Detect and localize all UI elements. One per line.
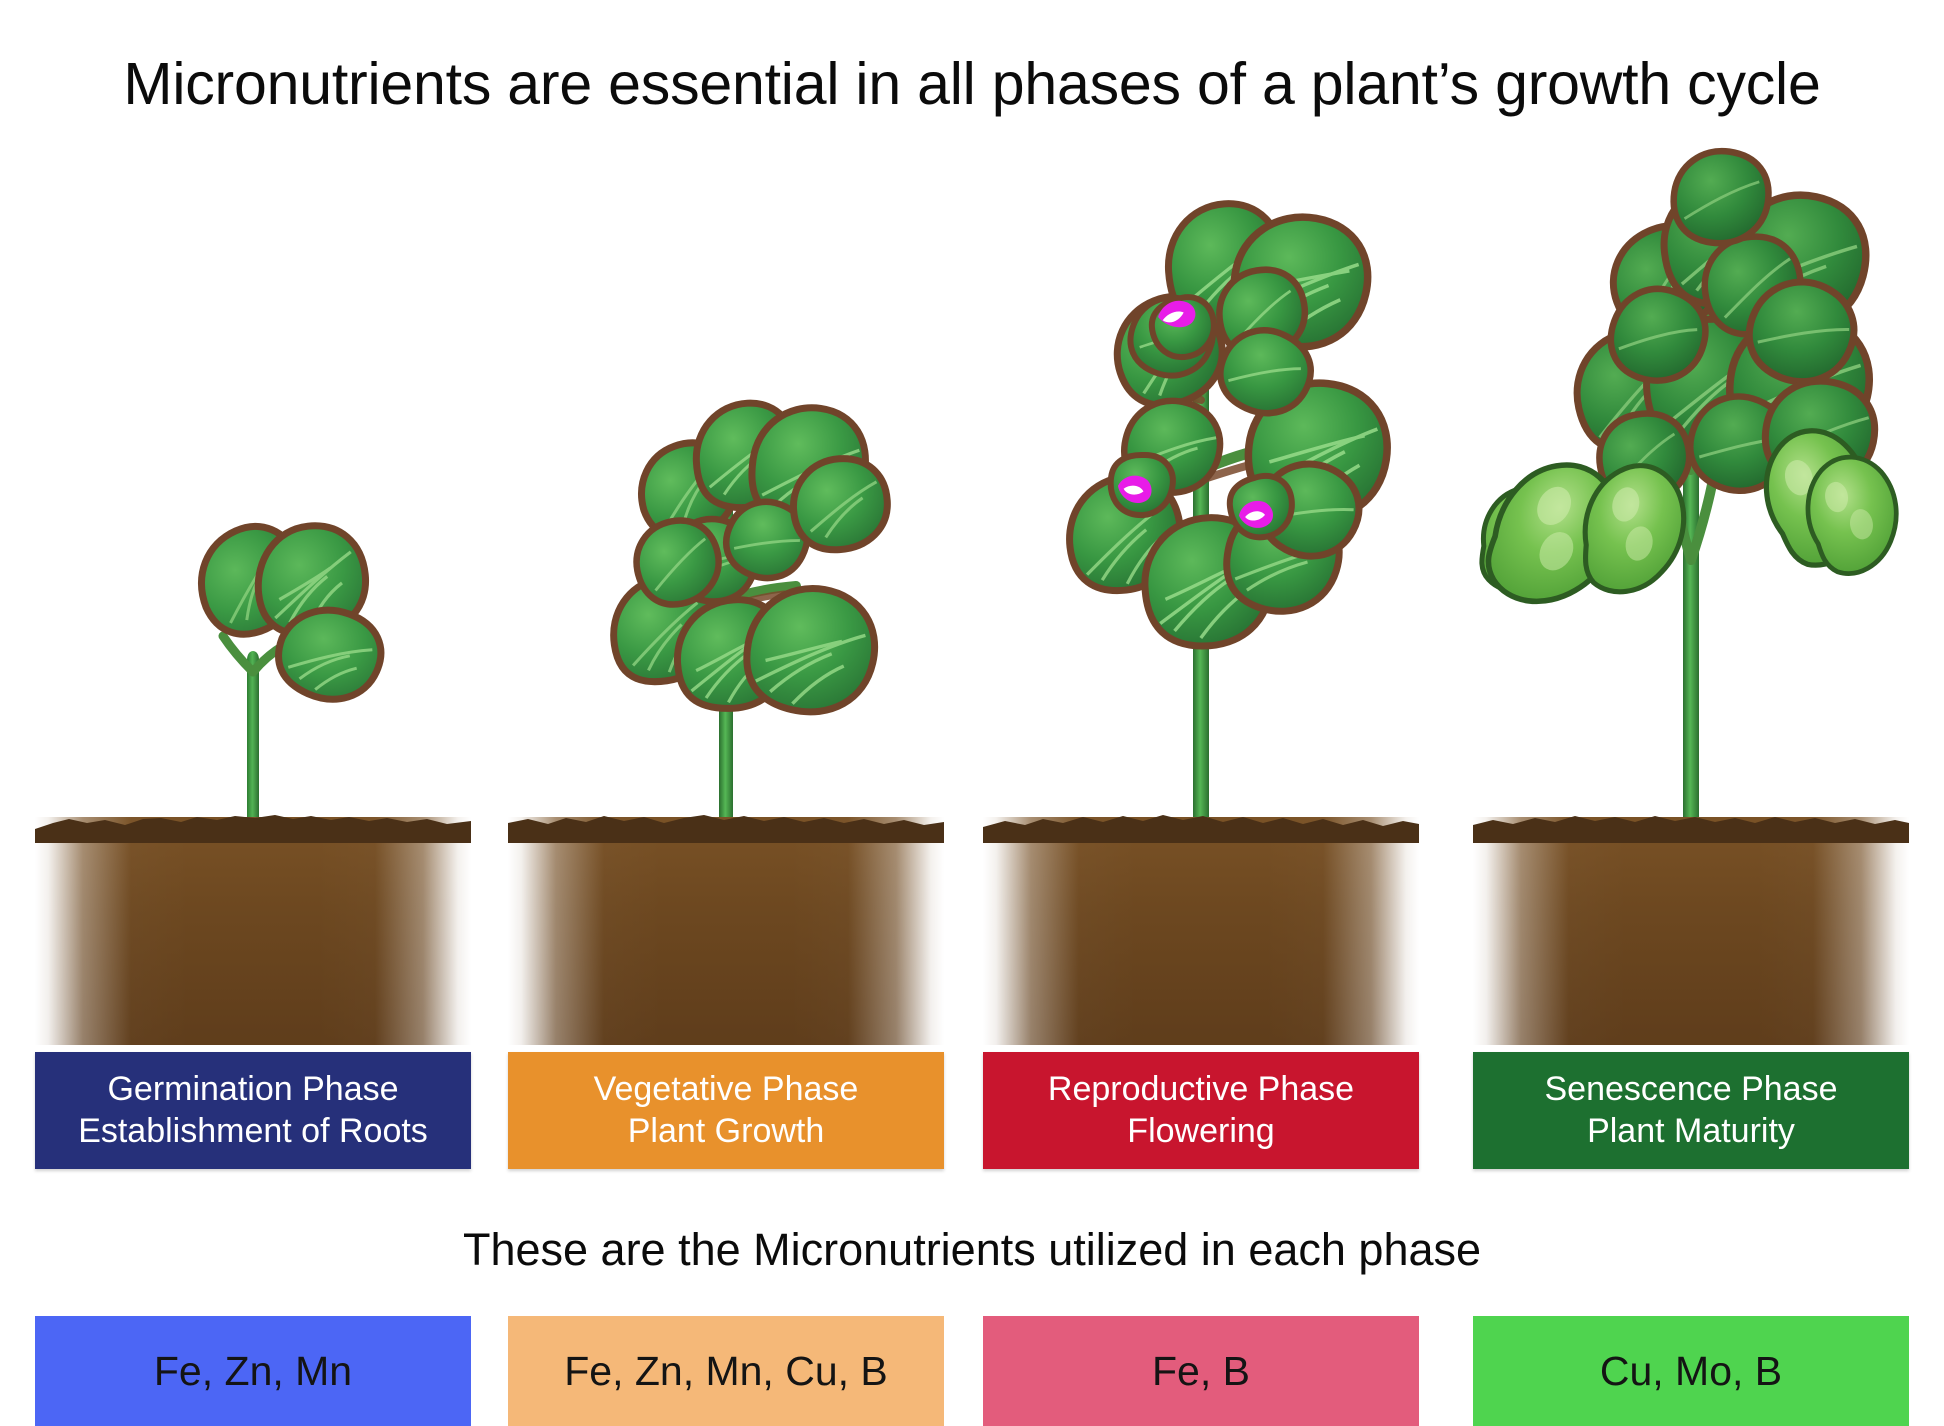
soil-surface-line <box>983 803 1419 843</box>
soil-gradient <box>983 817 1419 1045</box>
soil-gradient <box>508 817 944 1045</box>
phase-panel-germination <box>35 0 471 1045</box>
soil-block <box>35 817 471 1045</box>
phase-label-senescence[interactable]: Senescence Phase Plant Maturity <box>1473 1052 1909 1169</box>
phase-panel-reproductive <box>983 0 1419 1045</box>
nutrient-box-senescence[interactable]: Cu, Mo, B <box>1473 1316 1909 1426</box>
phase-label-line2: Plant Maturity <box>1587 1111 1795 1152</box>
phase-label-germination[interactable]: Germination Phase Establishment of Roots <box>35 1052 471 1169</box>
phase-label-reproductive[interactable]: Reproductive Phase Flowering <box>983 1052 1419 1169</box>
leaf <box>1671 148 1772 247</box>
soil-block <box>1473 817 1909 1045</box>
phase-label-vegetative[interactable]: Vegetative Phase Plant Growth <box>508 1052 944 1169</box>
soil-block <box>983 817 1419 1045</box>
phase-label-line2: Plant Growth <box>628 1111 825 1152</box>
soil-gradient <box>1473 817 1909 1045</box>
soil-gradient <box>35 817 471 1045</box>
phase-label-line2: Flowering <box>1127 1111 1274 1152</box>
phase-label-line1: Germination Phase <box>107 1069 398 1110</box>
phase-label-line2: Establishment of Roots <box>78 1111 428 1152</box>
phase-label-line1: Vegetative Phase <box>594 1069 859 1110</box>
soil-surface-line <box>508 803 944 843</box>
nutrient-box-vegetative[interactable]: Fe, Zn, Mn, Cu, B <box>508 1316 944 1426</box>
phase-panel-vegetative <box>508 0 944 1045</box>
phase-label-line1: Senescence Phase <box>1545 1069 1838 1110</box>
phase-label-line1: Reproductive Phase <box>1048 1069 1354 1110</box>
soil-surface-line <box>1473 803 1909 843</box>
micronutrients-subtitle: These are the Micronutrients utilized in… <box>0 1224 1944 1276</box>
nutrient-box-germination[interactable]: Fe, Zn, Mn <box>35 1316 471 1426</box>
soil-surface-line <box>35 803 471 843</box>
phase-panel-senescence <box>1473 0 1909 1045</box>
soil-block <box>508 817 944 1045</box>
nutrient-box-reproductive[interactable]: Fe, B <box>983 1316 1419 1426</box>
